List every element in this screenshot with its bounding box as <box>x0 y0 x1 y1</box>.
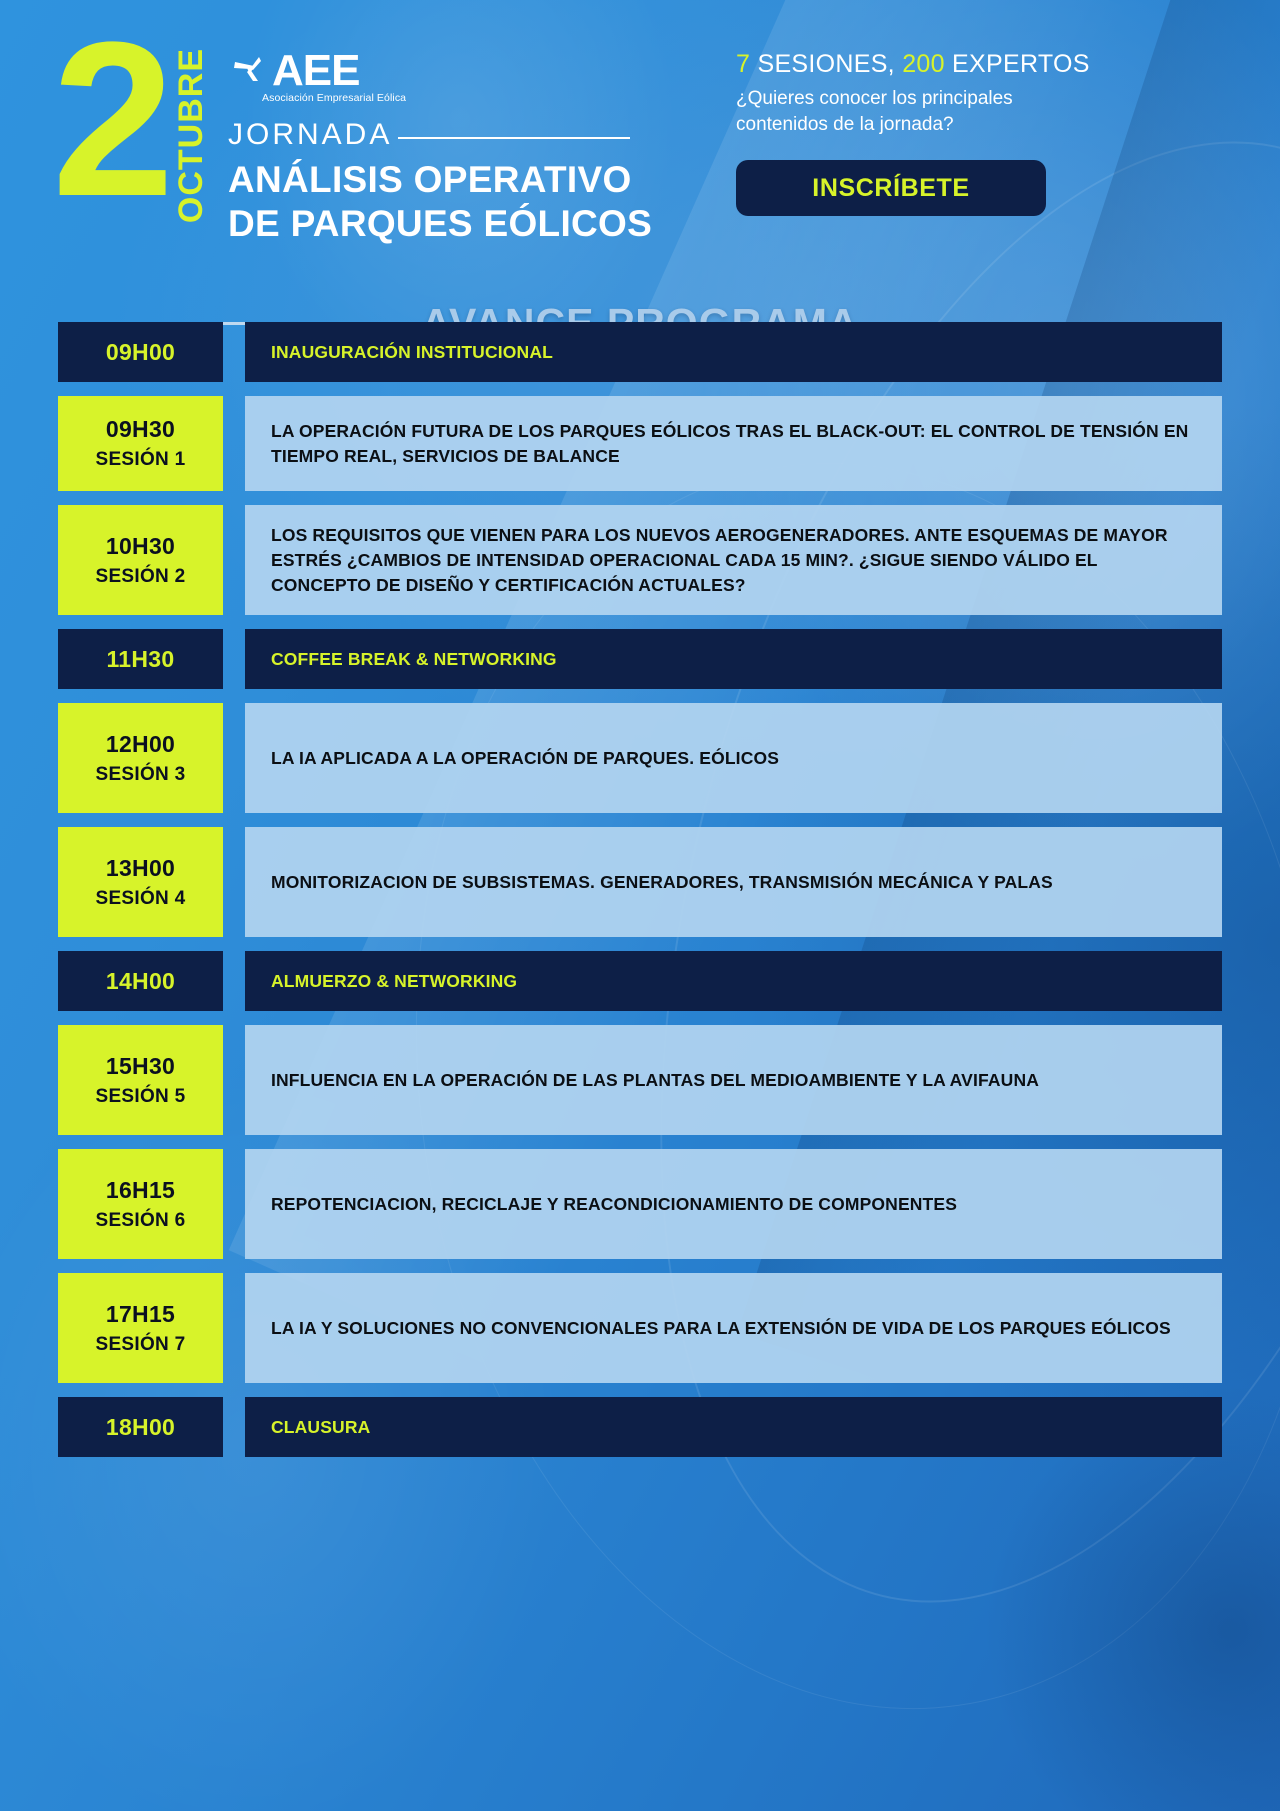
schedule-entry-title: MONITORIZACION DE SUBSISTEMAS. GENERADOR… <box>271 870 1053 895</box>
schedule-session-number: SESIÓN 4 <box>95 888 185 910</box>
schedule-time-chip: 16H15SESIÓN 6 <box>58 1149 223 1259</box>
register-button[interactable]: INSCRÍBETE <box>736 160 1046 216</box>
kicker-rule <box>398 137 630 139</box>
schedule-time: 11H30 <box>106 646 174 673</box>
schedule-time-chip: 10H30SESIÓN 2 <box>58 505 223 615</box>
logo-tagline: Asociación Empresarial Eólica <box>262 92 652 104</box>
schedule-row: 11H30COFFEE BREAK & NETWORKING <box>0 629 1280 689</box>
schedule-entry-title: LA IA Y SOLUCIONES NO CONVENCIONALES PAR… <box>271 1316 1171 1341</box>
event-day-number: 2 <box>52 24 166 214</box>
wind-turbine-icon <box>228 48 270 90</box>
schedule-time-chip: 09H30SESIÓN 1 <box>58 396 223 491</box>
schedule-entry-title: REPOTENCIACION, RECICLAJE Y REACONDICION… <box>271 1192 957 1217</box>
tagline-end-text: EXPERTOS <box>945 50 1090 78</box>
schedule-time: 15H30 <box>106 1053 175 1080</box>
schedule-time: 09H00 <box>106 339 175 366</box>
brand-block: AEE Asociación Empresarial Eólica JORNAD… <box>228 48 652 246</box>
schedule-session-number: SESIÓN 3 <box>95 764 185 786</box>
schedule-time: 12H00 <box>106 731 175 758</box>
schedule-entry-title: ALMUERZO & NETWORKING <box>271 969 517 994</box>
schedule-list: 09H00INAUGURACIÓN INSTITUCIONAL09H30SESI… <box>0 322 1280 1471</box>
schedule-session-number: SESIÓN 2 <box>95 566 185 588</box>
schedule-entry: MONITORIZACION DE SUBSISTEMAS. GENERADOR… <box>245 827 1222 937</box>
schedule-time: 13H00 <box>106 855 175 882</box>
schedule-entry: LOS REQUISITOS QUE VIENEN PARA LOS NUEVO… <box>245 505 1222 615</box>
schedule-entry: INAUGURACIÓN INSTITUCIONAL <box>245 322 1222 382</box>
schedule-time-chip: 15H30SESIÓN 5 <box>58 1025 223 1135</box>
schedule-row: 13H00SESIÓN 4MONITORIZACION DE SUBSISTEM… <box>0 827 1280 937</box>
schedule-session-number: SESIÓN 6 <box>95 1210 185 1232</box>
logo-row: AEE <box>228 48 652 90</box>
schedule-entry-title: COFFEE BREAK & NETWORKING <box>271 647 557 672</box>
schedule-entry: COFFEE BREAK & NETWORKING <box>245 629 1222 689</box>
schedule-row: 18H00CLAUSURA <box>0 1397 1280 1457</box>
header-subline-2: contenidos de la jornada? <box>736 112 1236 138</box>
header-subline-1: ¿Quieres conocer los principales <box>736 86 1236 112</box>
schedule-entry: CLAUSURA <box>245 1397 1222 1457</box>
tagline-mid-text: SESIONES, <box>750 50 902 78</box>
sessions-experts-tagline: 7 SESIONES, 200 EXPERTOS <box>736 50 1236 79</box>
schedule-time-chip: 11H30 <box>58 629 223 689</box>
schedule-row: 14H00ALMUERZO & NETWORKING <box>0 951 1280 1011</box>
event-title-line-1: ANÁLISIS OPERATIVO <box>228 158 652 202</box>
schedule-entry-title: CLAUSURA <box>271 1415 370 1440</box>
kicker-row: JORNADA <box>228 118 652 152</box>
schedule-entry-title: LA IA APLICADA A LA OPERACIÓN DE PARQUES… <box>271 746 779 771</box>
schedule-time-chip: 14H00 <box>58 951 223 1011</box>
experts-count: 200 <box>902 50 945 78</box>
schedule-time-chip: 17H15SESIÓN 7 <box>58 1273 223 1383</box>
schedule-time: 18H00 <box>106 1414 175 1441</box>
schedule-row: 16H15SESIÓN 6REPOTENCIACION, RECICLAJE Y… <box>0 1149 1280 1259</box>
schedule-entry: LA OPERACIÓN FUTURA DE LOS PARQUES EÓLIC… <box>245 396 1222 491</box>
event-title-line-2: DE PARQUES EÓLICOS <box>228 202 652 246</box>
schedule-session-number: SESIÓN 5 <box>95 1086 185 1108</box>
schedule-entry-title: LA OPERACIÓN FUTURA DE LOS PARQUES EÓLIC… <box>271 419 1196 469</box>
schedule-entry-title: INAUGURACIÓN INSTITUCIONAL <box>271 340 553 365</box>
schedule-row: 15H30SESIÓN 5INFLUENCIA EN LA OPERACIÓN … <box>0 1025 1280 1135</box>
schedule-row: 12H00SESIÓN 3LA IA APLICADA A LA OPERACI… <box>0 703 1280 813</box>
schedule-entry-title: LOS REQUISITOS QUE VIENEN PARA LOS NUEVO… <box>271 523 1196 598</box>
event-month-label: OCTUBRE <box>172 48 211 223</box>
kicker-label: JORNADA <box>228 118 392 152</box>
schedule-session-number: SESIÓN 1 <box>95 449 185 471</box>
schedule-session-number: SESIÓN 7 <box>95 1334 185 1356</box>
schedule-time: 10H30 <box>106 533 175 560</box>
schedule-row: 10H30SESIÓN 2LOS REQUISITOS QUE VIENEN P… <box>0 505 1280 615</box>
schedule-time-chip: 12H00SESIÓN 3 <box>58 703 223 813</box>
schedule-entry: REPOTENCIACION, RECICLAJE Y REACONDICION… <box>245 1149 1222 1259</box>
schedule-time: 09H30 <box>106 416 175 443</box>
poster-header: 2 OCTUBRE AEE Asociación Empresarial Eól… <box>0 0 1280 250</box>
schedule-entry: LA IA APLICADA A LA OPERACIÓN DE PARQUES… <box>245 703 1222 813</box>
logo-wordmark: AEE <box>272 52 359 90</box>
schedule-time: 17H15 <box>106 1301 175 1328</box>
schedule-entry: ALMUERZO & NETWORKING <box>245 951 1222 1011</box>
header-info-block: 7 SESIONES, 200 EXPERTOS ¿Quieres conoce… <box>736 50 1236 216</box>
schedule-time-chip: 18H00 <box>58 1397 223 1457</box>
schedule-entry: LA IA Y SOLUCIONES NO CONVENCIONALES PAR… <box>245 1273 1222 1383</box>
schedule-entry-title: INFLUENCIA EN LA OPERACIÓN DE LAS PLANTA… <box>271 1068 1039 1093</box>
schedule-time-chip: 09H00 <box>58 322 223 382</box>
schedule-time-chip: 13H00SESIÓN 4 <box>58 827 223 937</box>
sessions-count: 7 <box>736 50 750 78</box>
schedule-row: 09H00INAUGURACIÓN INSTITUCIONAL <box>0 322 1280 382</box>
schedule-time: 14H00 <box>106 968 175 995</box>
schedule-row: 17H15SESIÓN 7LA IA Y SOLUCIONES NO CONVE… <box>0 1273 1280 1383</box>
schedule-time: 16H15 <box>106 1177 175 1204</box>
schedule-entry: INFLUENCIA EN LA OPERACIÓN DE LAS PLANTA… <box>245 1025 1222 1135</box>
header-subline: ¿Quieres conocer los principales conteni… <box>736 86 1236 138</box>
poster-canvas: 2 OCTUBRE AEE Asociación Empresarial Eól… <box>0 0 1280 1811</box>
schedule-row: 09H30SESIÓN 1LA OPERACIÓN FUTURA DE LOS … <box>0 396 1280 491</box>
